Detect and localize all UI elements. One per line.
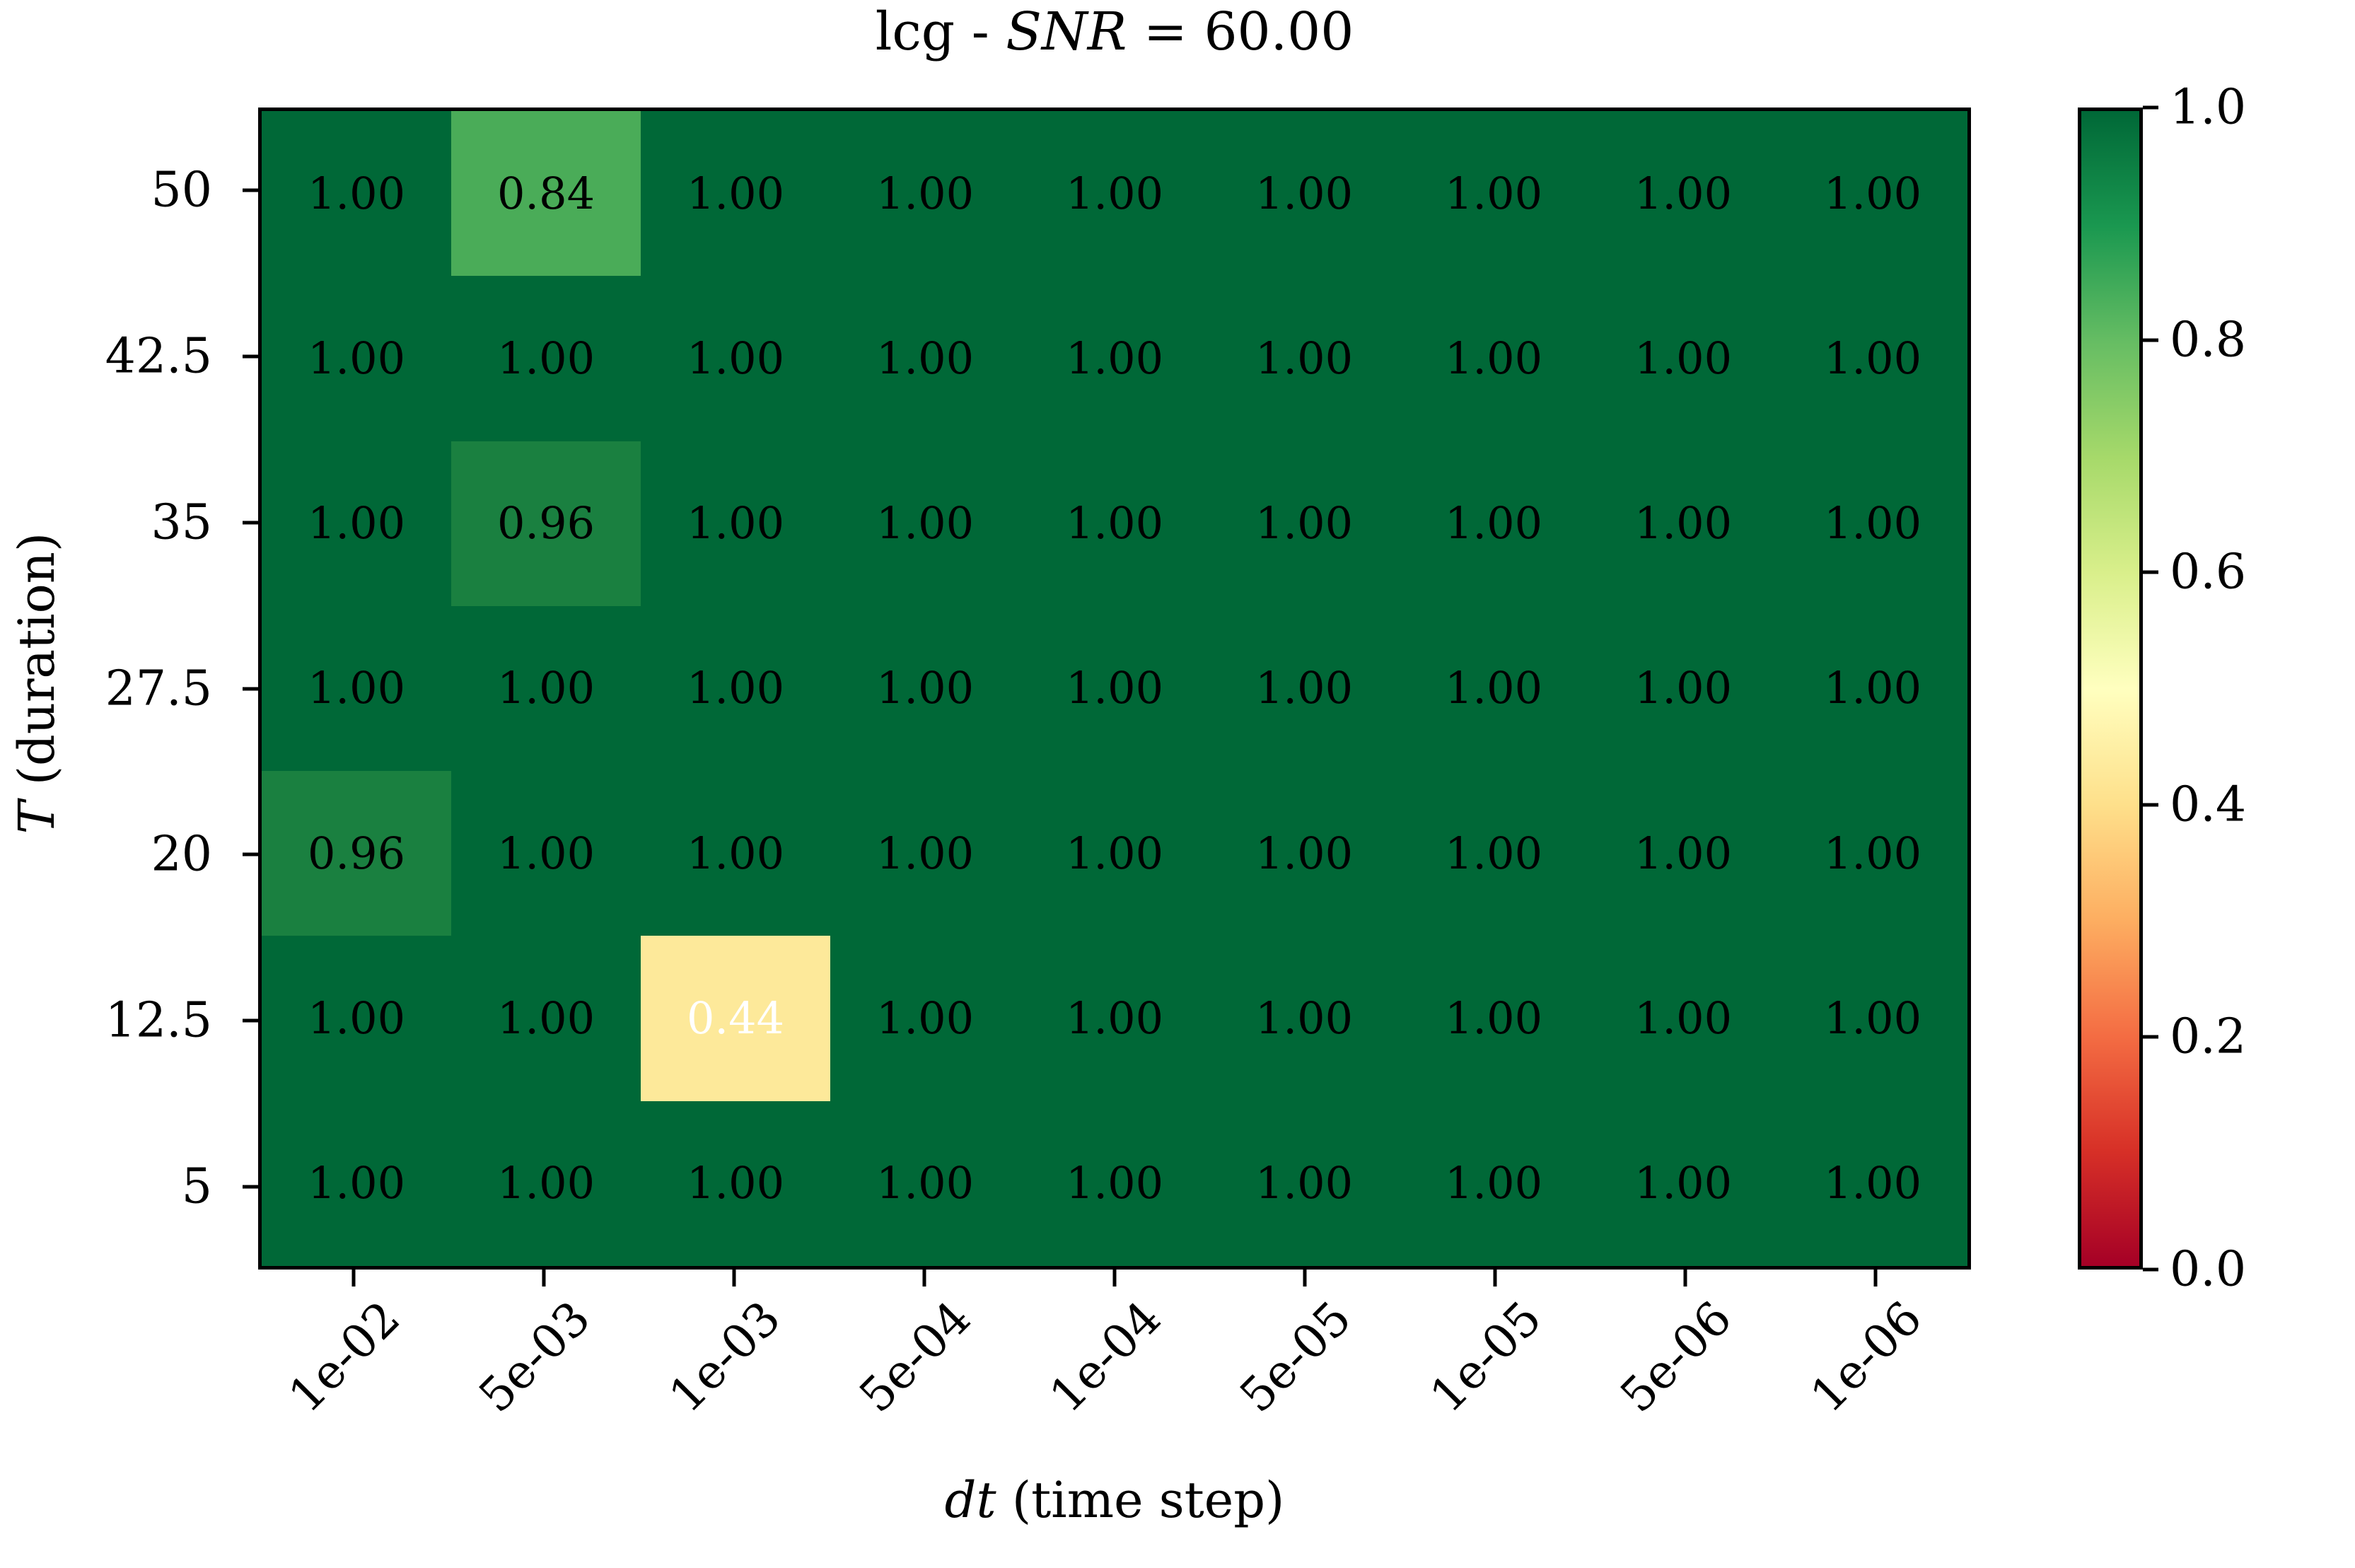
y-axis-tick-mark (243, 853, 258, 856)
heatmap-cell-value: 1.00 (687, 666, 784, 710)
heatmap-cell-value: 1.00 (1634, 666, 1732, 710)
heatmap-cell: 1.00 (1778, 276, 1967, 441)
heatmap-cell: 1.00 (1588, 441, 1778, 606)
heatmap-cell: 1.00 (262, 1101, 451, 1266)
heatmap-cell: 1.00 (1778, 1101, 1967, 1266)
heatmap-cell: 1.00 (1020, 276, 1209, 441)
heatmap-cell-value: 1.00 (308, 172, 405, 216)
heatmap-cell: 1.00 (830, 441, 1020, 606)
x-axis-tick-label: 5e-03 (468, 1291, 600, 1423)
colorbar-tick-label: 0.8 (2170, 312, 2246, 368)
colorbar-tick-label: 1.0 (2170, 80, 2246, 136)
heatmap-cell-value: 1.00 (1255, 337, 1353, 381)
heatmap-cell-value: 1.00 (1634, 337, 1732, 381)
heatmap-cell: 1.00 (451, 606, 641, 771)
heatmap-cell: 1.00 (262, 276, 451, 441)
y-axis-title: T (duration) (8, 400, 66, 966)
heatmap-cell-value: 1.00 (687, 337, 784, 381)
heatmap-cell-value: 1.00 (497, 666, 595, 710)
heatmap-cell: 1.00 (641, 606, 830, 771)
heatmap-cell-value: 1.00 (1445, 832, 1542, 876)
heatmap-cell: 1.00 (641, 771, 830, 936)
y-axis-tick-mark (243, 1185, 258, 1188)
heatmap-cell-value: 1.00 (1066, 666, 1163, 710)
heatmap-cell-value: 1.00 (1445, 1161, 1542, 1205)
heatmap-cell: 1.00 (1209, 606, 1399, 771)
heatmap-cell-value: 1.00 (1824, 501, 1921, 545)
heatmap-cell-value: 1.00 (876, 997, 974, 1040)
colorbar-tick-label: 0.4 (2170, 777, 2246, 832)
heatmap-cell-value: 1.00 (1824, 1161, 1921, 1205)
x-axis-tick-marks (258, 1270, 1971, 1287)
x-axis-tick-label: 5e-06 (1610, 1291, 1743, 1423)
heatmap-cell: 1.00 (641, 441, 830, 606)
heatmap-cell: 1.00 (451, 276, 641, 441)
heatmap-cell: 1.00 (830, 276, 1020, 441)
heatmap-cell: 1.00 (451, 936, 641, 1100)
heatmap-cell: 1.00 (1209, 276, 1399, 441)
x-axis-title: dt (time step) (258, 1471, 1971, 1529)
heatmap-cell-value: 1.00 (687, 501, 784, 545)
heatmap-cell-value: 1.00 (1824, 337, 1921, 381)
heatmap-cell-value: 1.00 (1066, 501, 1163, 545)
x-axis-tick-mark (922, 1270, 926, 1287)
heatmap-cell: 1.00 (830, 111, 1020, 276)
heatmap-cell-value: 1.00 (876, 832, 974, 876)
heatmap-cell: 1.00 (1209, 1101, 1399, 1266)
heatmap-cell-value: 1.00 (876, 1161, 974, 1205)
colorbar-gradient (2078, 108, 2143, 1270)
y-axis-tick-mark (243, 521, 258, 524)
y-axis-tick-label: 20 (151, 827, 212, 883)
y-axis-title-rest: (duration) (8, 533, 66, 801)
y-axis-tick-label: 42.5 (105, 329, 212, 385)
x-axis-tick-mark (1303, 1270, 1307, 1287)
heatmap-cell-value: 0.96 (308, 832, 405, 876)
heatmap-cell: 0.44 (641, 936, 830, 1100)
x-axis-title-italic-dt: dt (945, 1471, 996, 1529)
y-axis-tick-mark (243, 189, 258, 192)
heatmap-cell-value: 1.00 (308, 997, 405, 1040)
heatmap-cell: 1.00 (1778, 936, 1967, 1100)
colorbar-tick-mark (2143, 106, 2158, 110)
heatmap-cell: 1.00 (1588, 1101, 1778, 1266)
colorbar-tick-label: 0.6 (2170, 545, 2246, 600)
x-axis-title-rest: (time step) (996, 1471, 1285, 1529)
heatmap-cell: 1.00 (830, 771, 1020, 936)
x-axis-tick-mark (1494, 1270, 1497, 1287)
heatmap-cell: 1.00 (641, 111, 830, 276)
heatmap-cell: 1.00 (1399, 936, 1588, 1100)
y-axis-tick-marks (243, 108, 258, 1270)
heatmap-cell-value: 1.00 (1445, 666, 1542, 710)
heatmap-cell-value: 0.96 (497, 501, 595, 545)
x-axis-tick-label: 1e-02 (278, 1291, 410, 1423)
heatmap-cell: 1.00 (641, 1101, 830, 1266)
heatmap-cell: 1.00 (1588, 111, 1778, 276)
heatmap-cell-value: 1.00 (687, 172, 784, 216)
heatmap-cell-value: 1.00 (1066, 832, 1163, 876)
heatmap-cell: 0.96 (451, 441, 641, 606)
heatmap-cell-value: 1.00 (1445, 501, 1542, 545)
heatmap-cell-value: 1.00 (876, 172, 974, 216)
heatmap-cell: 1.00 (1020, 1101, 1209, 1266)
heatmap-cell: 1.00 (830, 606, 1020, 771)
x-axis-tick-mark (1113, 1270, 1117, 1287)
colorbar-tick-label: 0.0 (2170, 1242, 2246, 1298)
heatmap-cell-value: 1.00 (876, 501, 974, 545)
heatmap-grid: 1.000.841.001.001.001.001.001.001.001.00… (262, 111, 1967, 1266)
heatmap-cell: 1.00 (451, 1101, 641, 1266)
heatmap-cell: 1.00 (1399, 441, 1588, 606)
heatmap-cell: 1.00 (1778, 111, 1967, 276)
heatmap-cell: 1.00 (1399, 771, 1588, 936)
y-axis-tick-mark (243, 1018, 258, 1022)
heatmap-cell-value: 1.00 (1255, 1161, 1353, 1205)
heatmap-cell: 1.00 (1588, 606, 1778, 771)
heatmap-cell-value: 1.00 (1255, 501, 1353, 545)
heatmap-cell: 1.00 (1399, 606, 1588, 771)
heatmap-cell-value: 1.00 (876, 337, 974, 381)
heatmap-cell-value: 1.00 (308, 337, 405, 381)
heatmap-cell-value: 1.00 (308, 1161, 405, 1205)
chart-title: lcg - SNR = 60.00 (258, 6, 1971, 58)
heatmap-cell-value: 1.00 (1066, 337, 1163, 381)
x-axis-tick-mark (351, 1270, 355, 1287)
heatmap-cell-value: 1.00 (1824, 832, 1921, 876)
heatmap-cell: 1.00 (830, 936, 1020, 1100)
heatmap-cell: 1.00 (1209, 936, 1399, 1100)
x-axis-tick-mark (732, 1270, 735, 1287)
heatmap-cell-value: 1.00 (1255, 997, 1353, 1040)
heatmap-cell-value: 1.00 (497, 337, 595, 381)
colorbar-tick-mark (2143, 1268, 2158, 1272)
y-axis-tick-label: 50 (151, 163, 212, 219)
heatmap-cell-value: 1.00 (1824, 172, 1921, 216)
x-axis-tick-mark (542, 1270, 545, 1287)
colorbar-tick-mark (2143, 1035, 2158, 1039)
heatmap-cell-value: 1.00 (1634, 1161, 1732, 1205)
heatmap-cell: 0.96 (262, 771, 451, 936)
heatmap-cell-value: 1.00 (1255, 172, 1353, 216)
x-axis-tick-mark (1684, 1270, 1687, 1287)
x-axis-tick-label: 1e-03 (658, 1291, 791, 1423)
heatmap-cell-value: 1.00 (876, 666, 974, 710)
x-axis-tick-label: 1e-04 (1040, 1291, 1172, 1423)
x-axis-tick-label: 1e-05 (1420, 1291, 1552, 1423)
heatmap-cell-value: 0.84 (497, 172, 595, 216)
heatmap-cell-value: 1.00 (1445, 997, 1542, 1040)
heatmap-cell: 1.00 (1209, 441, 1399, 606)
heatmap-cell: 1.00 (641, 276, 830, 441)
heatmap-cell: 1.00 (1778, 606, 1967, 771)
y-axis-tick-label: 12.5 (105, 992, 212, 1048)
x-axis-tick-labels: 1e-025e-031e-035e-041e-045e-051e-055e-06… (258, 1291, 1971, 1460)
heatmap-cell: 1.00 (830, 1101, 1020, 1266)
y-axis-title-italic-t: T (8, 801, 66, 835)
heatmap-cell: 1.00 (262, 111, 451, 276)
heatmap-cell-value: 1.00 (497, 997, 595, 1040)
heatmap-cell: 1.00 (262, 441, 451, 606)
heatmap-cell-value: 1.00 (1634, 172, 1732, 216)
y-axis-tick-label: 5 (182, 1158, 212, 1214)
x-axis-tick-mark (1874, 1270, 1878, 1287)
heatmap-cell: 1.00 (1399, 111, 1588, 276)
heatmap-cell-value: 1.00 (1824, 997, 1921, 1040)
y-axis-tick-mark (243, 355, 258, 359)
y-axis-tick-mark (243, 687, 258, 690)
heatmap-cell: 1.00 (1778, 771, 1967, 936)
heatmap-cell: 1.00 (451, 771, 641, 936)
chart-title-prefix: lcg - (876, 1, 1006, 62)
heatmap-cell-value: 1.00 (1824, 666, 1921, 710)
colorbar-tick-mark (2143, 803, 2158, 806)
heatmap-cell: 1.00 (1588, 771, 1778, 936)
colorbar-tick-mark (2143, 571, 2158, 574)
heatmap-cell: 1.00 (1020, 606, 1209, 771)
x-axis-tick-label: 1e-06 (1801, 1291, 1933, 1423)
heatmap-cell: 1.00 (1020, 936, 1209, 1100)
chart-title-italic-snr: SNR (1006, 1, 1127, 62)
heatmap-cell-value: 1.00 (1255, 832, 1353, 876)
heatmap-cell: 1.00 (1209, 111, 1399, 276)
heatmap-cell-value: 1.00 (497, 832, 595, 876)
heatmap-cell: 1.00 (262, 936, 451, 1100)
heatmap-cell: 1.00 (1399, 1101, 1588, 1266)
heatmap-cell: 1.00 (1778, 441, 1967, 606)
heatmap-cell: 1.00 (262, 606, 451, 771)
heatmap-cell-value: 1.00 (687, 832, 784, 876)
y-axis-tick-label: 27.5 (105, 661, 212, 716)
heatmap-cell-value: 1.00 (1066, 1161, 1163, 1205)
colorbar: 0.00.20.40.60.81.0 (2078, 108, 2143, 1270)
x-axis-tick-label: 5e-04 (849, 1291, 981, 1423)
heatmap-cell: 0.84 (451, 111, 641, 276)
heatmap-cell-value: 1.00 (308, 501, 405, 545)
heatmap-plot-area: 1.000.841.001.001.001.001.001.001.001.00… (258, 108, 1971, 1270)
y-axis-tick-label: 35 (151, 494, 212, 550)
heatmap-cell-value: 1.00 (1634, 997, 1732, 1040)
heatmap-cell: 1.00 (1020, 441, 1209, 606)
heatmap-cell-value: 1.00 (1634, 832, 1732, 876)
heatmap-cell: 1.00 (1209, 771, 1399, 936)
heatmap-cell: 1.00 (1399, 276, 1588, 441)
heatmap-cell: 1.00 (1588, 936, 1778, 1100)
heatmap-cell: 1.00 (1020, 771, 1209, 936)
colorbar-tick-label: 0.2 (2170, 1009, 2246, 1065)
heatmap-cell: 1.00 (1588, 276, 1778, 441)
heatmap-cell-value: 0.44 (687, 997, 784, 1040)
x-axis-tick-label: 5e-05 (1230, 1291, 1362, 1423)
heatmap-cell-value: 1.00 (1445, 172, 1542, 216)
chart-title-suffix: = 60.00 (1127, 1, 1354, 62)
heatmap-cell-value: 1.00 (1066, 997, 1163, 1040)
heatmap-cell-value: 1.00 (497, 1161, 595, 1205)
heatmap-cell-value: 1.00 (1255, 666, 1353, 710)
heatmap-cell-value: 1.00 (1066, 172, 1163, 216)
heatmap-cell: 1.00 (1020, 111, 1209, 276)
heatmap-cell-value: 1.00 (1634, 501, 1732, 545)
heatmap-cell-value: 1.00 (1445, 337, 1542, 381)
heatmap-cell-value: 1.00 (308, 666, 405, 710)
heatmap-cell-value: 1.00 (687, 1161, 784, 1205)
colorbar-tick-mark (2143, 338, 2158, 342)
